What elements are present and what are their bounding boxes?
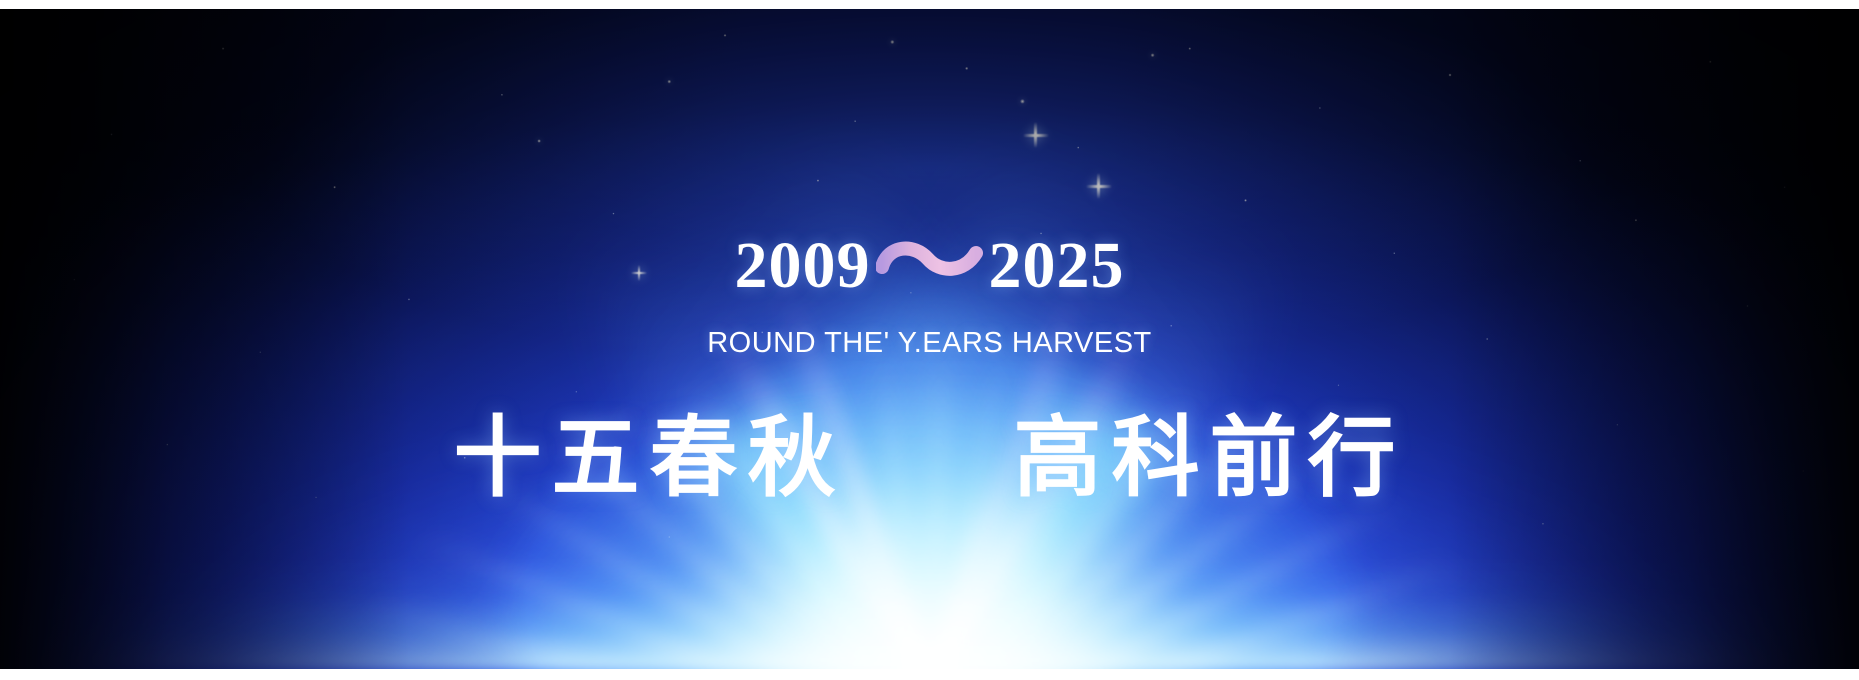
anniversary-banner: 2009 2025 [0, 0, 1859, 680]
bottom-cyan-rim-glow [0, 559, 1859, 669]
top-letterbox-strip [0, 0, 1859, 9]
bottom-letterbox-strip [0, 669, 1859, 680]
night-sky-background: 2009 2025 [0, 9, 1859, 669]
